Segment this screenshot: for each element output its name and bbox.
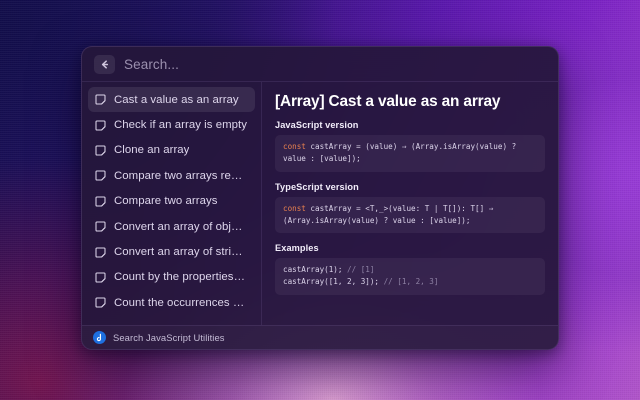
list-item-label: Clone an array bbox=[114, 144, 189, 156]
list-item[interactable]: Count the occurrences of a valu... bbox=[88, 290, 255, 315]
list-item[interactable]: Compare two arrays bbox=[88, 189, 255, 214]
window-body: Cast a value as an array Check if an arr… bbox=[82, 82, 558, 325]
snippet-icon bbox=[95, 247, 106, 258]
snippet-icon bbox=[95, 120, 106, 131]
list-item[interactable]: Clone an array bbox=[88, 138, 255, 163]
list-item-label: Count by the properties of an ar... bbox=[114, 271, 248, 283]
list-item-label: Check if an array is empty bbox=[114, 119, 247, 131]
section-heading-javascript: JavaScript version bbox=[275, 120, 545, 130]
snippet-icon bbox=[95, 145, 106, 156]
snippet-icon bbox=[95, 196, 106, 207]
result-list[interactable]: Cast a value as an array Check if an arr… bbox=[82, 82, 262, 325]
code-block-typescript: const castArray = <T,_>(value: T | T[]):… bbox=[275, 197, 545, 234]
list-item[interactable]: Cast a value as an array bbox=[88, 87, 255, 112]
snippet-icon bbox=[95, 221, 106, 232]
search-bar bbox=[82, 47, 558, 82]
detail-title: [Array] Cast a value as an array bbox=[275, 93, 545, 111]
snippet-icon bbox=[95, 94, 106, 105]
section-heading-typescript: TypeScript version bbox=[275, 182, 545, 192]
app-badge-icon bbox=[93, 331, 106, 344]
search-input[interactable] bbox=[124, 57, 546, 72]
example-line-2-code: castArray([1, 2, 3]); bbox=[283, 277, 384, 286]
list-item[interactable]: Convert an array of strings to n... bbox=[88, 239, 255, 264]
status-bar: Search JavaScript Utilities bbox=[82, 325, 558, 349]
snippet-icon bbox=[95, 170, 106, 181]
code-block-javascript: const castArray = (value) ⇒ (Array.isArr… bbox=[275, 135, 545, 172]
code-body: castArray = <T,_>(value: T | T[]): T[] ⇒… bbox=[283, 204, 498, 225]
code-keyword: const bbox=[283, 204, 306, 213]
code-keyword: const bbox=[283, 142, 306, 151]
section-heading-examples: Examples bbox=[275, 243, 545, 253]
arrow-left-icon bbox=[99, 59, 110, 70]
code-body: castArray = (value) ⇒ (Array.isArray(val… bbox=[283, 142, 521, 163]
list-item-label: Compare two arrays bbox=[114, 195, 217, 207]
list-item-label: Cast a value as an array bbox=[114, 94, 239, 106]
example-line-1-code: castArray(1); bbox=[283, 265, 347, 274]
snippet-icon bbox=[95, 272, 106, 283]
list-item[interactable]: Compare two arrays regardless... bbox=[88, 163, 255, 188]
list-item[interactable]: Count by the properties of an ar... bbox=[88, 265, 255, 290]
example-line-1-comment: // [1] bbox=[347, 265, 374, 274]
list-item-label: Compare two arrays regardless... bbox=[114, 170, 248, 182]
snippet-icon bbox=[95, 297, 106, 308]
list-item-label: Convert an array of objects to a... bbox=[114, 221, 248, 233]
code-block-examples: castArray(1); // [1] castArray([1, 2, 3]… bbox=[275, 258, 545, 295]
list-item-label: Convert an array of strings to n... bbox=[114, 246, 248, 258]
back-button[interactable] bbox=[94, 55, 115, 74]
list-item[interactable]: Convert an array of objects to a... bbox=[88, 214, 255, 239]
example-line-2-comment: // [1, 2, 3] bbox=[384, 277, 439, 286]
detail-pane: [Array] Cast a value as an array JavaScr… bbox=[262, 82, 558, 325]
list-item[interactable]: Check if an array is empty bbox=[88, 112, 255, 137]
status-bar-label: Search JavaScript Utilities bbox=[113, 332, 225, 343]
list-item-label: Count the occurrences of a valu... bbox=[114, 297, 248, 309]
launcher-window: Cast a value as an array Check if an arr… bbox=[81, 46, 559, 350]
